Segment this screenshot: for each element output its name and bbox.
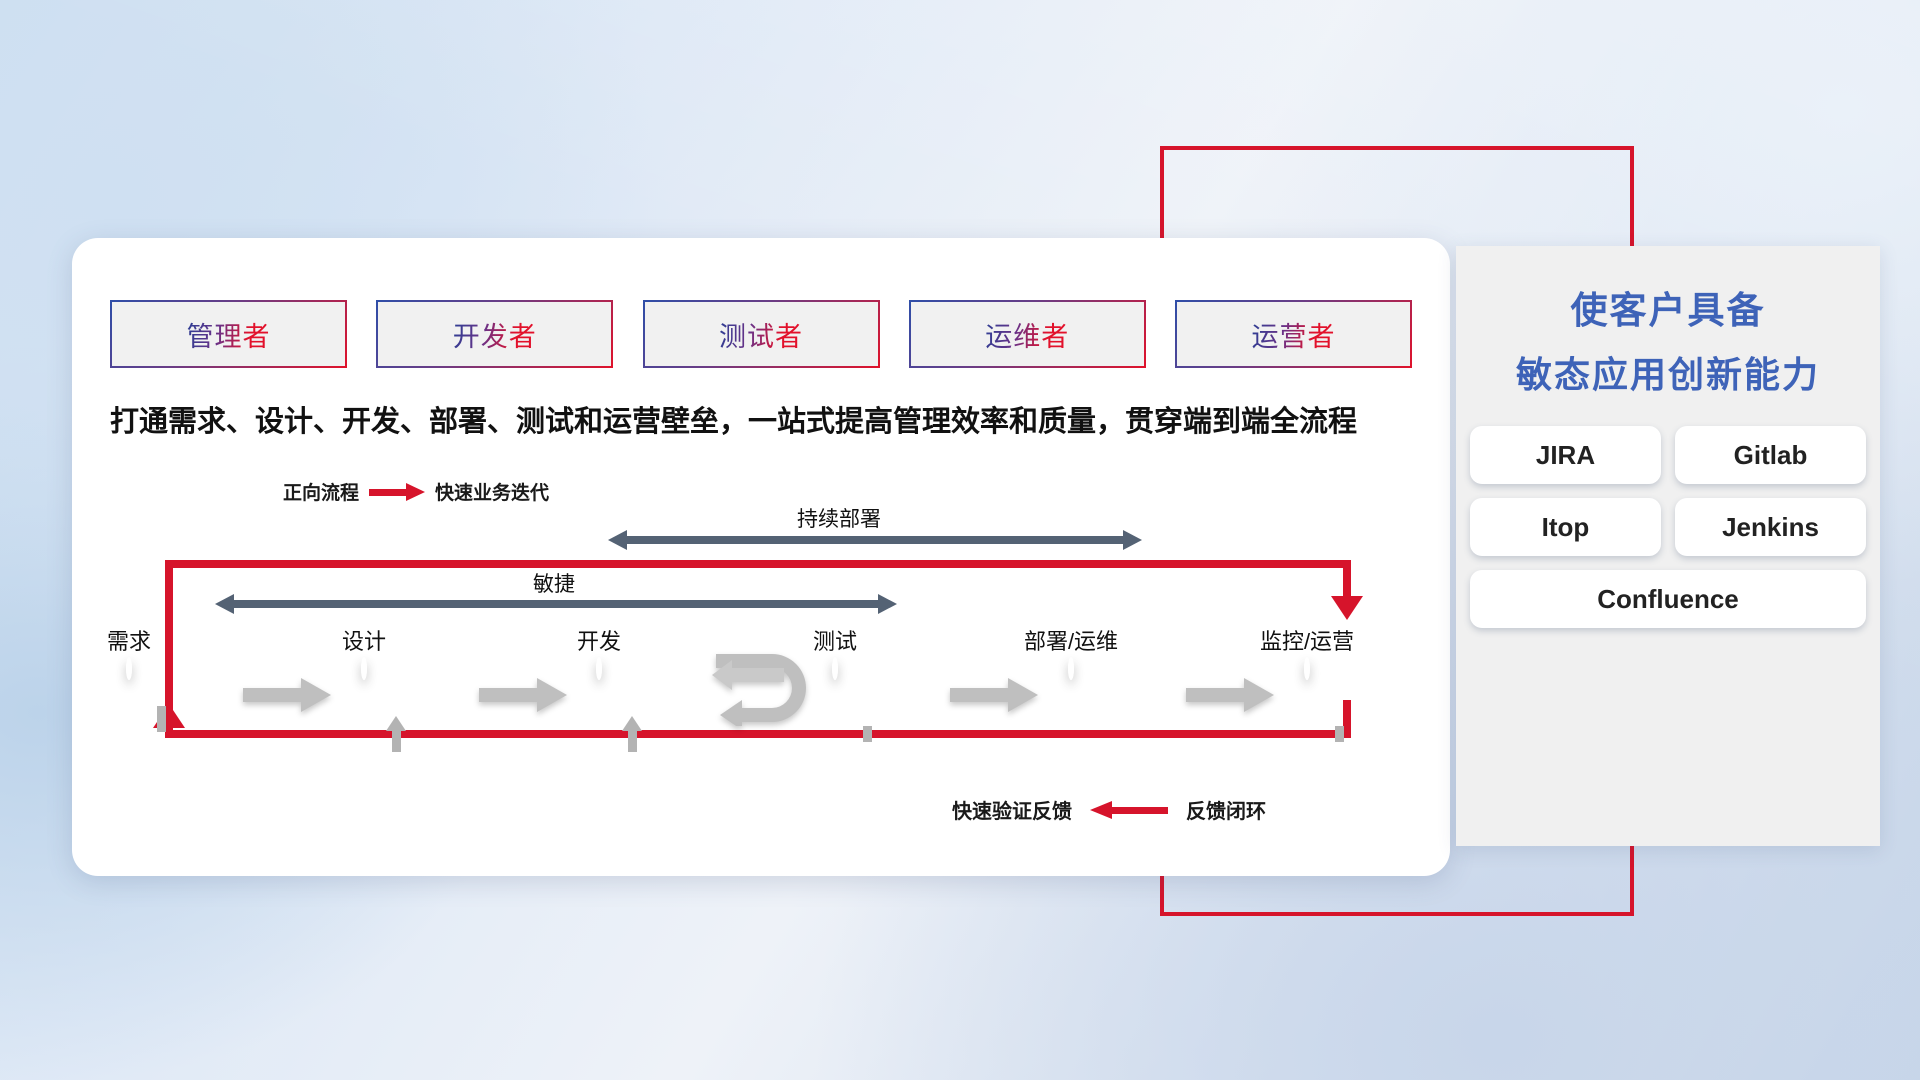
arrow-head-right	[1123, 530, 1142, 550]
flow-arrow-requirement-to-design-icon	[243, 676, 331, 714]
stage-dot	[1304, 657, 1310, 680]
feedback-loop-bottom	[165, 730, 1351, 738]
role-boxes: 管理者 开发者 测试者 运维者 运营者	[110, 300, 1412, 370]
stage-design[interactable]: 设计	[361, 660, 367, 678]
stage-label: 监控/运营	[1260, 624, 1354, 656]
stage-development[interactable]: 开发	[596, 660, 602, 678]
arrow-head-left	[215, 594, 234, 614]
flow-arrow-deploy-to-monitor-icon	[1186, 676, 1274, 714]
stage-dot	[1068, 657, 1074, 680]
stage-label: 需求	[107, 624, 151, 656]
flow-arrow-dev-test-loop-icon	[706, 654, 816, 726]
flow-arrow-testing-to-deploy-icon	[950, 676, 1038, 714]
feedback-loop-arrow-down-icon	[1331, 596, 1363, 620]
arrow-head-right	[878, 594, 897, 614]
stage-label: 开发	[577, 624, 621, 656]
role-label: 运营者	[1252, 315, 1336, 354]
role-box-manager[interactable]: 管理者	[110, 300, 347, 368]
arrow-shaft	[233, 600, 879, 608]
legend-feedback-result-label: 快速验证反馈	[952, 795, 1072, 824]
stage-dot	[126, 657, 132, 680]
arrow-left-red-icon	[1090, 804, 1168, 816]
role-box-developer[interactable]: 开发者	[376, 300, 613, 368]
role-box-ops[interactable]: 运维者	[909, 300, 1146, 368]
flow-arrow-design-to-development-icon	[479, 676, 567, 714]
panel-title-line1: 使客户具备	[1456, 280, 1880, 334]
tool-chip-list: JIRA Gitlab Itop Jenkins Confluence	[1470, 426, 1866, 628]
arrow-head-left	[608, 530, 627, 550]
stage-dot	[361, 657, 367, 680]
tool-chip-gitlab[interactable]: Gitlab	[1675, 426, 1866, 484]
feedback-loop-top	[165, 560, 1351, 568]
feedback-loop-bottom-right	[1343, 700, 1351, 738]
tool-chip-jira[interactable]: JIRA	[1470, 426, 1661, 484]
tool-chip-confluence[interactable]: Confluence	[1470, 570, 1866, 628]
legend-forward-from-label: 正向流程	[283, 478, 359, 505]
stage-dot	[596, 657, 602, 680]
tool-chip-jenkins[interactable]: Jenkins	[1675, 498, 1866, 556]
arrow-shaft	[626, 536, 1124, 544]
tools-panel: 使客户具备 敏态应用创新能力 JIRA Gitlab Itop Jenkins …	[1456, 246, 1880, 846]
stage-dot	[832, 657, 838, 680]
stage-deploy-ops[interactable]: 部署/运维	[1068, 660, 1074, 678]
double-arrow-continuous-deployment-icon	[608, 530, 1142, 550]
panel-title-line2: 敏态应用创新能力	[1456, 346, 1880, 398]
stage-label: 测试	[813, 624, 857, 656]
tool-chip-itop[interactable]: Itop	[1470, 498, 1661, 556]
stage-requirement[interactable]: 需求	[126, 660, 132, 678]
role-label: 测试者	[719, 315, 803, 354]
headline-text: 打通需求、设计、开发、部署、测试和运营壁垒，一站式提高管理效率和质量，贯穿端到端…	[110, 398, 1430, 440]
connector-frame-bottom	[1160, 912, 1632, 916]
legend-forward-flow: 正向流程 快速业务迭代	[283, 478, 549, 505]
role-label: 运维者	[985, 315, 1069, 354]
legend-feedback-loop: 快速验证反馈 反馈闭环	[952, 795, 1266, 824]
legend-feedback-source-label: 反馈闭环	[1186, 795, 1266, 824]
role-label: 开发者	[453, 315, 537, 354]
stage-testing[interactable]: 测试	[832, 660, 838, 678]
role-label: 管理者	[187, 315, 271, 354]
connector-frame-top	[1160, 146, 1632, 150]
stage-monitor-operations[interactable]: 监控/运营	[1304, 660, 1310, 678]
band-label-continuous-deployment: 持续部署	[797, 503, 881, 533]
legend-forward-to-label: 快速业务迭代	[435, 478, 549, 505]
stage-label: 设计	[342, 624, 386, 656]
role-box-tester[interactable]: 测试者	[643, 300, 880, 368]
arrow-right-red-icon	[369, 486, 425, 498]
feedback-loop-arrow-up-icon	[153, 704, 185, 728]
role-box-operations[interactable]: 运营者	[1175, 300, 1412, 368]
double-arrow-agile-icon	[215, 594, 897, 614]
stage-label: 部署/运维	[1024, 624, 1118, 656]
